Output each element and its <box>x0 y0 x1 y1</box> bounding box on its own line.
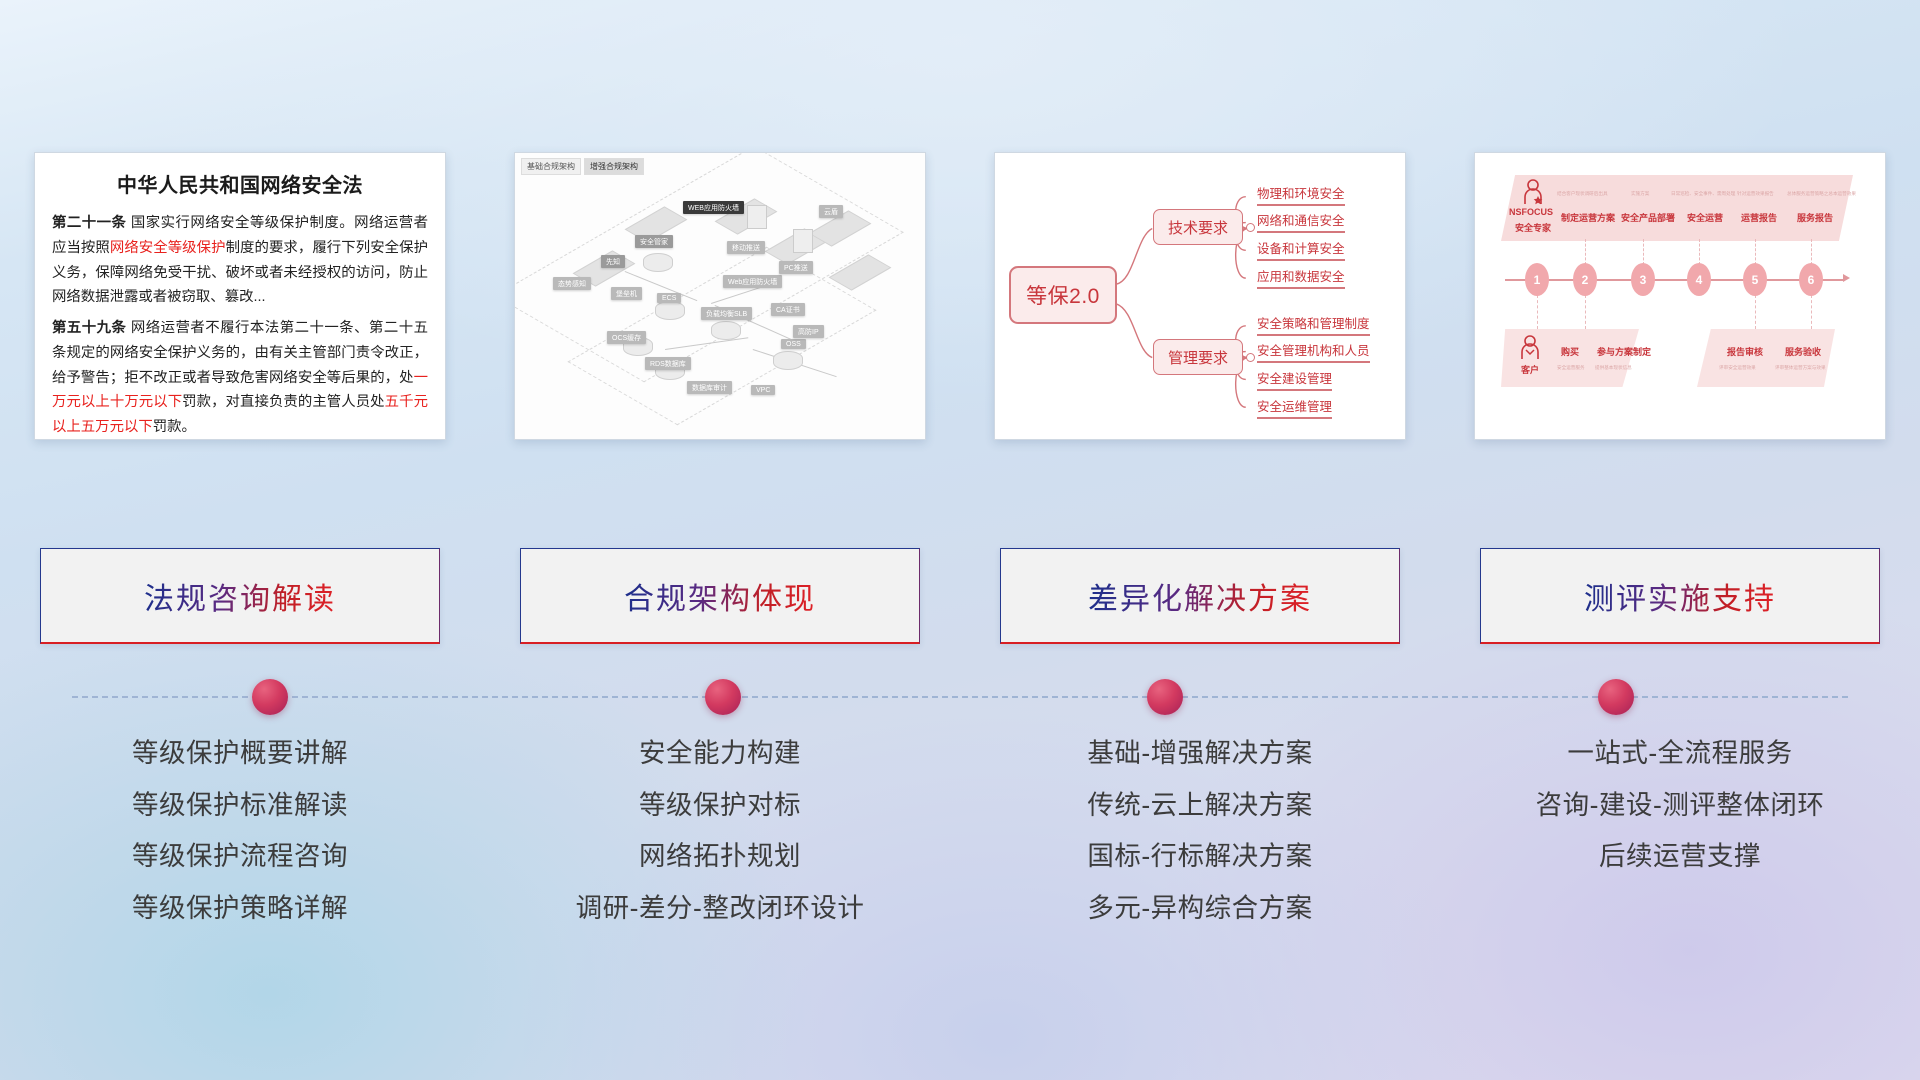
node-rds[interactable]: RDS数据库 <box>645 357 691 370</box>
node-ecs[interactable]: ECS <box>657 293 681 303</box>
tab-basic-compliance[interactable]: 基础合规架构 <box>521 158 581 175</box>
mindmap-branch-management[interactable]: 管理要求 <box>1153 339 1243 375</box>
list-item: 等级保护标准解读 <box>132 792 348 819</box>
article-59-label: 第五十九条 <box>52 320 126 336</box>
title-slot-2: 合规架构体现 <box>480 548 960 646</box>
process-tick-6 <box>1537 295 1538 329</box>
customer-step-label-purchase: 购买 <box>1561 345 1579 358</box>
node-cloud-shield[interactable]: 云盾 <box>819 205 843 218</box>
tab-enhanced-compliance[interactable]: 增强合规架构 <box>584 158 644 175</box>
expert-role-label: 安全专家 <box>1515 221 1551 234</box>
iso-cylinder-slb <box>711 321 741 340</box>
node-pc-push[interactable]: PC推送 <box>779 261 813 274</box>
node-security-steward[interactable]: 安全管家 <box>635 235 673 248</box>
list-item: 传统-云上解决方案 <box>1087 792 1312 819</box>
list-item: 等级保护流程咨询 <box>132 843 348 870</box>
title-slot-3: 差异化解决方案 <box>960 548 1440 646</box>
process-tick-8 <box>1755 295 1756 329</box>
card-slot-law: 中华人民共和国网络安全法 第二十一条 国家实行网络安全等级保护制度。网络运营者应… <box>0 152 480 442</box>
customer-step-label-review: 报告审核 <box>1727 345 1763 358</box>
node-slb[interactable]: 负载均衡SLB <box>701 307 752 320</box>
law-article-21: 第二十一条 国家实行网络安全等级保护制度。网络运营者应当按照网络安全等级保护制度… <box>52 211 428 310</box>
mindmap-diagram: 等保2.0 技术要求 物理和环境安全 网络和通信安全 设备和计算安全 应用和数据… <box>995 153 1405 439</box>
customer-step-sub-review: 评审安全运营效果 <box>1719 365 1756 371</box>
iso-box-pc <box>793 229 813 253</box>
process-node-1[interactable]: 1 <box>1525 263 1549 296</box>
architecture-tab-group[interactable]: 基础合规架构 增强合规架构 <box>521 158 644 175</box>
list-item: 等级保护对标 <box>639 792 801 819</box>
mindmap-leaf-physical-environment[interactable]: 物理和环境安全 <box>1257 183 1345 206</box>
step-sub-operate: 日常巡检、安全事件、需周处理 <box>1671 191 1735 197</box>
card-row: 中华人民共和国网络安全法 第二十一条 国家实行网络安全等级保护制度。网络运营者应… <box>0 152 1920 442</box>
list-item: 咨询-建设-测评整体闭环 <box>1536 792 1825 819</box>
process-axis <box>1505 279 1845 281</box>
timeline-dot-1[interactable] <box>252 679 288 715</box>
list-item: 等级保护概要讲解 <box>132 740 348 767</box>
process-tick-1 <box>1585 239 1586 265</box>
article-21-label: 第二十一条 <box>52 215 126 231</box>
expert-org-name: NSFOCUS <box>1509 207 1553 217</box>
step-label-ops-report: 运营报告 <box>1741 211 1777 224</box>
customer-step-sub-participate: 提供基本现状信息 <box>1595 365 1632 371</box>
customer-role-label: 客户 <box>1521 363 1539 376</box>
mindmap-leaf-ops-mgmt[interactable]: 安全运维管理 <box>1257 396 1332 419</box>
timeline-dot-4[interactable] <box>1598 679 1634 715</box>
card-slot-mindmap: 等保2.0 技术要求 物理和环境安全 网络和通信安全 设备和计算安全 应用和数据… <box>960 152 1440 442</box>
title-label-assessment-support: 测评实施支持 <box>1584 574 1776 618</box>
list-item: 一站式-全流程服务 <box>1567 740 1792 767</box>
poster-stage: 中华人民共和国网络安全法 第二十一条 国家实行网络安全等级保护制度。网络运营者应… <box>0 0 1920 1080</box>
step-sub-deploy: 实施方案 <box>1631 191 1649 197</box>
iso-cylinder-ecs <box>655 301 685 320</box>
law-body: 中华人民共和国网络安全法 第二十一条 国家实行网络安全等级保护制度。网络运营者应… <box>35 153 445 440</box>
node-ocs[interactable]: OCS缓存 <box>607 331 646 344</box>
timeline-dot-2[interactable] <box>705 679 741 715</box>
list-item: 后续运营支撑 <box>1599 843 1761 870</box>
node-db-audit[interactable]: 数据库审计 <box>687 381 732 394</box>
title-button-differentiated-solution[interactable]: 差异化解决方案 <box>1000 548 1400 644</box>
list-item: 多元-异构综合方案 <box>1087 895 1312 922</box>
iso-cylinder-manager <box>643 253 673 272</box>
step-label-plan: 制定运营方案 <box>1561 211 1615 224</box>
process-tick-9 <box>1811 295 1812 329</box>
title-label-compliance-architecture: 合规架构体现 <box>624 574 816 618</box>
title-label-regulation-consulting: 法规咨询解读 <box>144 574 336 618</box>
node-vpc[interactable]: VPC <box>751 385 775 395</box>
node-foresight[interactable]: 先知 <box>601 255 625 268</box>
process-tick-3 <box>1699 239 1700 265</box>
node-web-app-firewall[interactable]: Web应用防火墙 <box>723 275 782 288</box>
timeline-dashed-line <box>72 696 1848 698</box>
iso-cylinder-oss <box>773 351 803 370</box>
process-diagram: NSFOCUS 安全专家 客户 制定运营方案 结合客户现状调研后出具 安全产品部… <box>1475 153 1885 439</box>
customer-step-sub-purchase: 安全运营服务 <box>1557 365 1585 371</box>
article-59-text-c: 罚款。 <box>153 419 196 435</box>
customer-avatar-icon <box>1519 335 1541 361</box>
node-mobile-push[interactable]: 移动推送 <box>727 241 765 254</box>
node-ca-cert[interactable]: CA证书 <box>771 303 805 316</box>
process-card[interactable]: NSFOCUS 安全专家 客户 制定运营方案 结合客户现状调研后出具 安全产品部… <box>1474 152 1886 440</box>
list-column-regulation-consulting: 等级保护概要讲解 等级保护标准解读 等级保护流程咨询 等级保护策略详解 <box>0 740 480 946</box>
list-column-differentiated-solution: 基础-增强解决方案 传统-云上解决方案 国标-行标解决方案 多元-异构综合方案 <box>960 740 1440 946</box>
article-21-highlight: 网络安全等级保护 <box>110 240 226 256</box>
mindmap-leaf-application-data[interactable]: 应用和数据安全 <box>1257 266 1345 289</box>
step-sub-ops-report: 针对运营效果报告 <box>1737 191 1774 197</box>
node-bastion[interactable]: 堡垒机 <box>611 287 642 300</box>
title-label-differentiated-solution: 差异化解决方案 <box>1088 574 1312 618</box>
article-59-text-b: 罚款，对直接负责的主管人员处 <box>182 394 384 410</box>
title-slot-4: 测评实施支持 <box>1440 548 1920 646</box>
title-row: 法规咨询解读 合规架构体现 差异化解决方案 测评实施支持 <box>0 548 1920 646</box>
process-tick-5 <box>1811 239 1812 265</box>
mindmap-knob-management[interactable] <box>1246 353 1255 362</box>
list-item: 网络拓扑规划 <box>639 843 801 870</box>
title-button-assessment-support[interactable]: 测评实施支持 <box>1480 548 1880 644</box>
node-oss[interactable]: OSS <box>781 339 806 349</box>
node-situational-awareness[interactable]: 态势感知 <box>553 277 591 290</box>
architecture-card[interactable]: 基础合规架构 增强合规架构 <box>514 152 926 440</box>
card-slot-process: NSFOCUS 安全专家 客户 制定运营方案 结合客户现状调研后出具 安全产品部… <box>1440 152 1920 442</box>
title-slot-1: 法规咨询解读 <box>0 548 480 646</box>
title-button-compliance-architecture[interactable]: 合规架构体现 <box>520 548 920 644</box>
law-title: 中华人民共和国网络安全法 <box>52 169 428 198</box>
list-row: 等级保护概要讲解 等级保护标准解读 等级保护流程咨询 等级保护策略详解 安全能力… <box>0 740 1920 946</box>
process-node-6[interactable]: 6 <box>1799 263 1823 296</box>
node-anti-ddos-ip[interactable]: 高防IP <box>793 325 824 338</box>
process-node-4[interactable]: 4 <box>1687 263 1711 296</box>
mindmap-root[interactable]: 等保2.0 <box>1009 266 1117 324</box>
step-label-service-report: 服务报告 <box>1797 211 1833 224</box>
step-sub-plan: 结合客户现状调研后出具 <box>1557 191 1608 197</box>
list-item: 调研-差分-整改闭环设计 <box>576 895 865 922</box>
mindmap-leaf-device-computing[interactable]: 设备和计算安全 <box>1257 238 1345 261</box>
law-article-59: 第五十九条 网络运营者不履行本法第二十一条、第二十五条规定的网络安全保护义务的，… <box>52 316 428 440</box>
list-item: 国标-行标解决方案 <box>1087 843 1312 870</box>
customer-step-sub-acceptance: 评审整体运营方案与效果 <box>1775 365 1826 371</box>
mindmap-branch-technical[interactable]: 技术要求 <box>1153 209 1243 245</box>
process-tick-7 <box>1585 295 1586 329</box>
law-card[interactable]: 中华人民共和国网络安全法 第二十一条 国家实行网络安全等级保护制度。网络运营者应… <box>34 152 446 440</box>
process-band-provider <box>1501 175 1853 241</box>
process-node-3[interactable]: 3 <box>1631 263 1655 296</box>
node-waf[interactable]: WEB应用防火墙 <box>683 201 744 214</box>
process-band-customer-right <box>1697 329 1835 387</box>
list-item: 等级保护策略详解 <box>132 895 348 922</box>
timeline-dot-3[interactable] <box>1147 679 1183 715</box>
process-node-2[interactable]: 2 <box>1573 263 1597 296</box>
expert-avatar-icon <box>1521 179 1545 205</box>
card-slot-architecture: 基础合规架构 增强合规架构 <box>480 152 960 442</box>
architecture-diagram: 基础合规架构 增强合规架构 <box>515 153 925 439</box>
list-item: 安全能力构建 <box>639 740 801 767</box>
mindmap-leaf-org-personnel[interactable]: 安全管理机构和人员 <box>1257 340 1370 363</box>
process-axis-arrow-icon <box>1843 274 1850 282</box>
step-sub-service-report: 总体服务运营策略之总本运营效果 <box>1787 191 1856 197</box>
process-tick-4 <box>1755 239 1756 265</box>
mindmap-leaf-policy-system[interactable]: 安全策略和管理制度 <box>1257 313 1370 336</box>
step-label-deploy: 安全产品部署 <box>1621 211 1675 224</box>
step-label-operate: 安全运营 <box>1687 211 1723 224</box>
process-node-5[interactable]: 5 <box>1743 263 1767 296</box>
mindmap-leaf-construction-mgmt[interactable]: 安全建设管理 <box>1257 368 1332 391</box>
mindmap-leaf-network-communication[interactable]: 网络和通信安全 <box>1257 210 1345 233</box>
customer-step-label-participate: 参与方案制定 <box>1597 345 1651 358</box>
mindmap-knob-technical[interactable] <box>1246 223 1255 232</box>
list-column-compliance-architecture: 安全能力构建 等级保护对标 网络拓扑规划 调研-差分-整改闭环设计 <box>480 740 960 946</box>
list-column-assessment-support: 一站式-全流程服务 咨询-建设-测评整体闭环 后续运营支撑 <box>1440 740 1920 946</box>
title-button-regulation-consulting[interactable]: 法规咨询解读 <box>40 548 440 644</box>
customer-step-label-acceptance: 服务验收 <box>1785 345 1821 358</box>
mindmap-card[interactable]: 等保2.0 技术要求 物理和环境安全 网络和通信安全 设备和计算安全 应用和数据… <box>994 152 1406 440</box>
iso-box-mobile <box>747 205 767 229</box>
process-tick-2 <box>1643 239 1644 265</box>
list-item: 基础-增强解决方案 <box>1087 740 1312 767</box>
